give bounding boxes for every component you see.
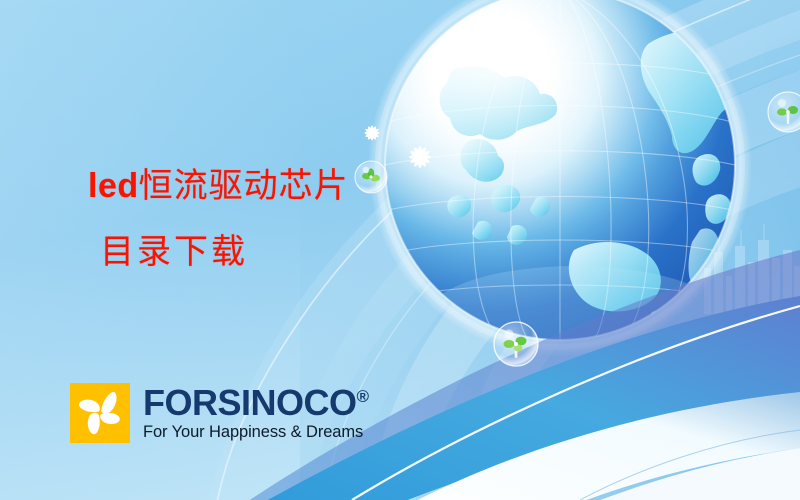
registered-trademark-symbol: ® <box>357 387 370 406</box>
forsinoco-logo[interactable]: FORSINOCO® For Your Happiness & Dreams <box>70 383 369 443</box>
wordmark: FORSINOCO® <box>143 384 369 422</box>
logo-wordmark-block: FORSINOCO® For Your Happiness & Dreams <box>143 384 369 442</box>
wordmark-text: FORSINOCO <box>143 382 357 423</box>
tagline: For Your Happiness & Dreams <box>143 423 369 442</box>
pinwheel-icon <box>70 383 130 443</box>
bubble-with-windmill <box>494 322 538 366</box>
marketing-banner: led恒流驱动芯片 目录下载 FORSINOCO® For Your <box>0 0 800 500</box>
bubble-with-pinwheel <box>355 161 387 193</box>
four-petal-pinwheel-mark <box>70 383 130 443</box>
